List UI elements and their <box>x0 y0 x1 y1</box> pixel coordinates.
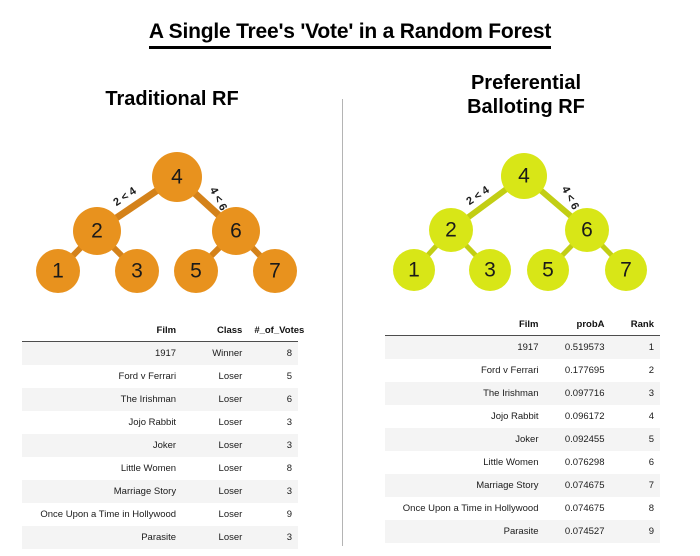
cell-class: Loser <box>182 503 248 526</box>
cell-rank: 5 <box>611 428 661 451</box>
column-header-rank: Rank <box>611 316 661 336</box>
tree-node-label-3: 3 <box>484 259 496 282</box>
column-header-film: Film <box>385 316 545 336</box>
cell-votes: 3 <box>248 434 298 457</box>
cell-class: Loser <box>182 388 248 411</box>
table-row: The Irishman0.0977163 <box>385 382 660 405</box>
cell-proba: 0.519573 <box>545 336 611 360</box>
panel-heading-right: Preferential Balloting RF <box>386 72 666 119</box>
tree-node-label-3: 3 <box>131 260 143 283</box>
cell-class: Loser <box>182 457 248 480</box>
cell-votes: 6 <box>248 388 298 411</box>
cell-proba: 0.074527 <box>545 520 611 543</box>
cell-film: Parasite <box>385 520 545 543</box>
cell-film: Joker <box>22 434 182 457</box>
cell-film: Marriage Story <box>22 480 182 503</box>
table-row: Parasite0.0745279 <box>385 520 660 543</box>
column-header-votes: #_of_Votes <box>248 322 298 342</box>
tree-node-label-6: 6 <box>581 219 593 242</box>
panel-heading-left: Traditional RF <box>22 88 322 112</box>
cell-film: The Irishman <box>22 388 182 411</box>
table-row: Jojo RabbitLoser3 <box>22 411 298 434</box>
table-row: Marriage Story0.0746757 <box>385 474 660 497</box>
tree-node-label-5: 5 <box>190 260 202 283</box>
table-row: Ford v FerrariLoser5 <box>22 365 298 388</box>
cell-votes: 8 <box>248 342 298 366</box>
tree-node-label-7: 7 <box>269 260 281 283</box>
cell-proba: 0.074675 <box>545 474 611 497</box>
table-row: Once Upon a Time in Hollywood0.0746758 <box>385 497 660 520</box>
cell-votes: 3 <box>248 526 298 549</box>
page-title-text: A Single Tree's 'Vote' in a Random Fores… <box>149 20 551 49</box>
tree-node-label-4: 4 <box>518 165 530 188</box>
decision-tree-left: 4 2 6 1 3 5 7 2 < 4 4 < 6 <box>18 142 324 302</box>
cell-votes: 3 <box>248 480 298 503</box>
cell-film: Jojo Rabbit <box>22 411 182 434</box>
cell-proba: 0.097716 <box>545 382 611 405</box>
cell-votes: 8 <box>248 457 298 480</box>
decision-tree-right: 4 2 6 1 3 5 7 2 < 4 4 < 6 <box>382 142 672 302</box>
table-row: Ford v Ferrari0.1776952 <box>385 359 660 382</box>
tree-node-label-2: 2 <box>445 219 457 242</box>
cell-votes: 5 <box>248 365 298 388</box>
table-row: Little WomenLoser8 <box>22 457 298 480</box>
column-header-proba: probA <box>545 316 611 336</box>
cell-film: 1917 <box>385 336 545 360</box>
cell-film: Little Women <box>385 451 545 474</box>
cell-film: Ford v Ferrari <box>22 365 182 388</box>
cell-film: Little Women <box>22 457 182 480</box>
cell-class: Winner <box>182 342 248 366</box>
tree-node-label-6: 6 <box>230 220 242 243</box>
cell-film: Once Upon a Time in Hollywood <box>385 497 545 520</box>
table-row: JokerLoser3 <box>22 434 298 457</box>
panel-divider <box>342 99 343 546</box>
cell-proba: 0.096172 <box>545 405 611 428</box>
cell-proba: 0.092455 <box>545 428 611 451</box>
cell-class: Loser <box>182 365 248 388</box>
tree-node-label-1: 1 <box>52 260 64 283</box>
cell-rank: 1 <box>611 336 661 360</box>
cell-rank: 6 <box>611 451 661 474</box>
cell-votes: 3 <box>248 411 298 434</box>
cell-rank: 9 <box>611 520 661 543</box>
table-row: 1917Winner8 <box>22 342 298 366</box>
tree-node-label-5: 5 <box>542 259 554 282</box>
table-header-row: Film Class #_of_Votes <box>22 322 298 342</box>
table-row: Once Upon a Time in HollywoodLoser9 <box>22 503 298 526</box>
tree-node-label-7: 7 <box>620 259 632 282</box>
cell-rank: 8 <box>611 497 661 520</box>
cell-proba: 0.074675 <box>545 497 611 520</box>
panel-heading-right-line1: Preferential <box>386 72 666 96</box>
table-row: Marriage StoryLoser3 <box>22 480 298 503</box>
cell-class: Loser <box>182 526 248 549</box>
tree-node-label-2: 2 <box>91 220 103 243</box>
cell-film: Once Upon a Time in Hollywood <box>22 503 182 526</box>
column-header-film: Film <box>22 322 182 342</box>
table-row: Little Women0.0762986 <box>385 451 660 474</box>
tree-node-label-4: 4 <box>171 166 183 189</box>
page-title: A Single Tree's 'Vote' in a Random Fores… <box>0 20 700 49</box>
cell-class: Loser <box>182 434 248 457</box>
tree-nodes-left <box>36 152 297 293</box>
cell-film: Jojo Rabbit <box>385 405 545 428</box>
proba-table: Film probA Rank 19170.5195731Ford v Ferr… <box>385 316 660 543</box>
cell-film: Ford v Ferrari <box>385 359 545 382</box>
cell-proba: 0.177695 <box>545 359 611 382</box>
table-row: The IrishmanLoser6 <box>22 388 298 411</box>
table-row: Joker0.0924555 <box>385 428 660 451</box>
table-header-row: Film probA Rank <box>385 316 660 336</box>
table-row: 19170.5195731 <box>385 336 660 360</box>
votes-table: Film Class #_of_Votes 1917Winner8Ford v … <box>22 322 298 549</box>
cell-film: 1917 <box>22 342 182 366</box>
cell-class: Loser <box>182 480 248 503</box>
cell-rank: 3 <box>611 382 661 405</box>
cell-rank: 7 <box>611 474 661 497</box>
cell-film: The Irishman <box>385 382 545 405</box>
cell-class: Loser <box>182 411 248 434</box>
cell-votes: 9 <box>248 503 298 526</box>
cell-rank: 4 <box>611 405 661 428</box>
cell-film: Joker <box>385 428 545 451</box>
table-row: ParasiteLoser3 <box>22 526 298 549</box>
tree-node-label-1: 1 <box>408 259 420 282</box>
panel-heading-right-line2: Balloting RF <box>386 96 666 120</box>
column-header-class: Class <box>182 322 248 342</box>
cell-rank: 2 <box>611 359 661 382</box>
table-row: Jojo Rabbit0.0961724 <box>385 405 660 428</box>
cell-film: Parasite <box>22 526 182 549</box>
panel-heading-left-line1: Traditional RF <box>22 88 322 112</box>
cell-proba: 0.076298 <box>545 451 611 474</box>
cell-film: Marriage Story <box>385 474 545 497</box>
